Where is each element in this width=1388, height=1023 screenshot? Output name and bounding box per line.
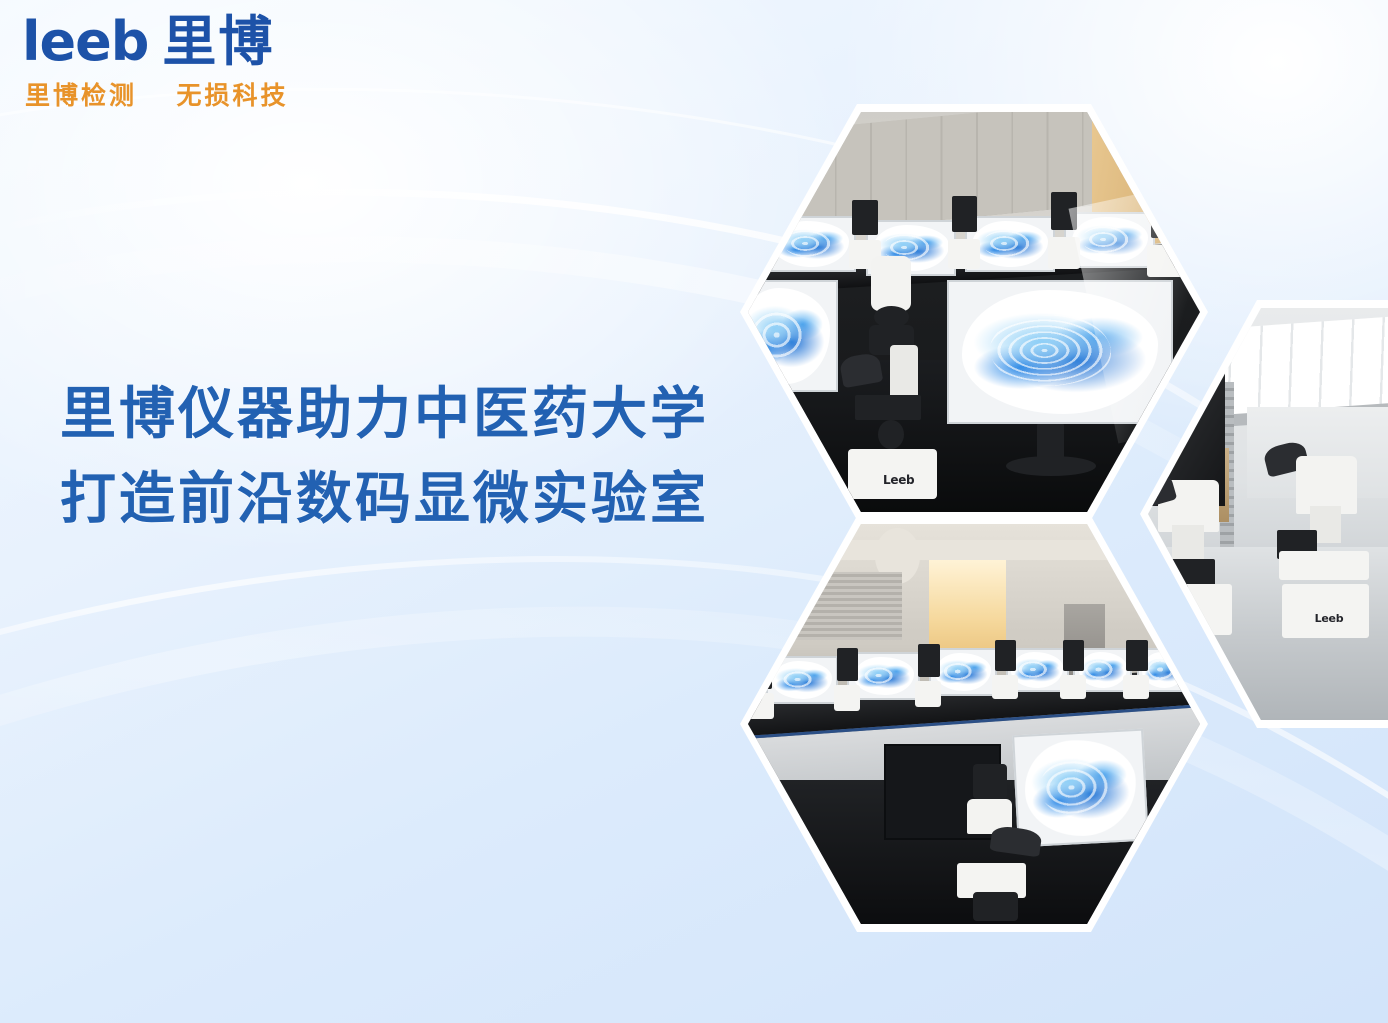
digital-microscope-classroom-scene: Leeb: [748, 112, 1200, 512]
device-brand-label: Leeb: [883, 474, 914, 486]
lab-bench-microscopes-scene: Leeb Leeb: [1148, 308, 1388, 720]
microscope-base: [992, 675, 1018, 699]
microscope-base: [1123, 675, 1149, 699]
laboratory-overview-scene: [748, 524, 1200, 924]
condenser-knob: [878, 420, 904, 450]
microscope-row-4: [992, 640, 1019, 700]
microscope-base: [915, 681, 941, 707]
photo-hex-top[interactable]: Leeb: [748, 112, 1200, 512]
microscope-arm: [1172, 525, 1205, 563]
windows11-wallpaper: [772, 661, 832, 700]
microscope-row-6: [1123, 640, 1150, 700]
windows11-wallpaper: [935, 653, 991, 692]
microscope-head: [852, 200, 877, 235]
windows11-wallpaper: [972, 221, 1048, 267]
camera-module: [973, 764, 1007, 799]
microscope-head: [1126, 640, 1148, 671]
microscope-head: [871, 256, 911, 311]
photo-hex-right[interactable]: Leeb Leeb: [1148, 308, 1388, 720]
device-brand-label: Leeb: [1315, 613, 1344, 624]
microscope-head: [918, 644, 940, 677]
microscope-head: [1063, 640, 1085, 671]
microscope-base: [973, 892, 1019, 921]
microscope-head: [952, 196, 977, 232]
microscope-base: [1060, 675, 1086, 699]
microscope-head: [995, 640, 1017, 671]
microscope-row-5: [1060, 640, 1087, 700]
microscope-stage: [1279, 551, 1368, 580]
microscope-base: [1282, 584, 1369, 638]
microscope-row-2: [834, 648, 861, 712]
microscope-stage: [855, 395, 921, 420]
photo-hex-bottom[interactable]: [748, 524, 1200, 924]
microscope-left: [1148, 473, 1247, 646]
microscope-foreground: [947, 764, 1046, 924]
binocular-eyepiece: [838, 352, 883, 388]
microscope-base: [834, 685, 860, 711]
microscope-row-3: [915, 644, 942, 708]
banner-root: leeb 里博 里博检测 无损科技 里博仪器助力中医药大学 打造前沿数码显微实验…: [0, 0, 1388, 1023]
hexagon-photo-cluster: Leeb Leeb: [0, 0, 1388, 1023]
binocular-eyepiece: [989, 825, 1042, 857]
microscope-center: Leeb: [1270, 440, 1388, 646]
monitor-stand-base: [1006, 456, 1096, 476]
microscope-foreground-hero: Leeb: [838, 256, 956, 504]
microscope-head: [837, 648, 859, 681]
windows11-wallpaper: [854, 657, 914, 696]
